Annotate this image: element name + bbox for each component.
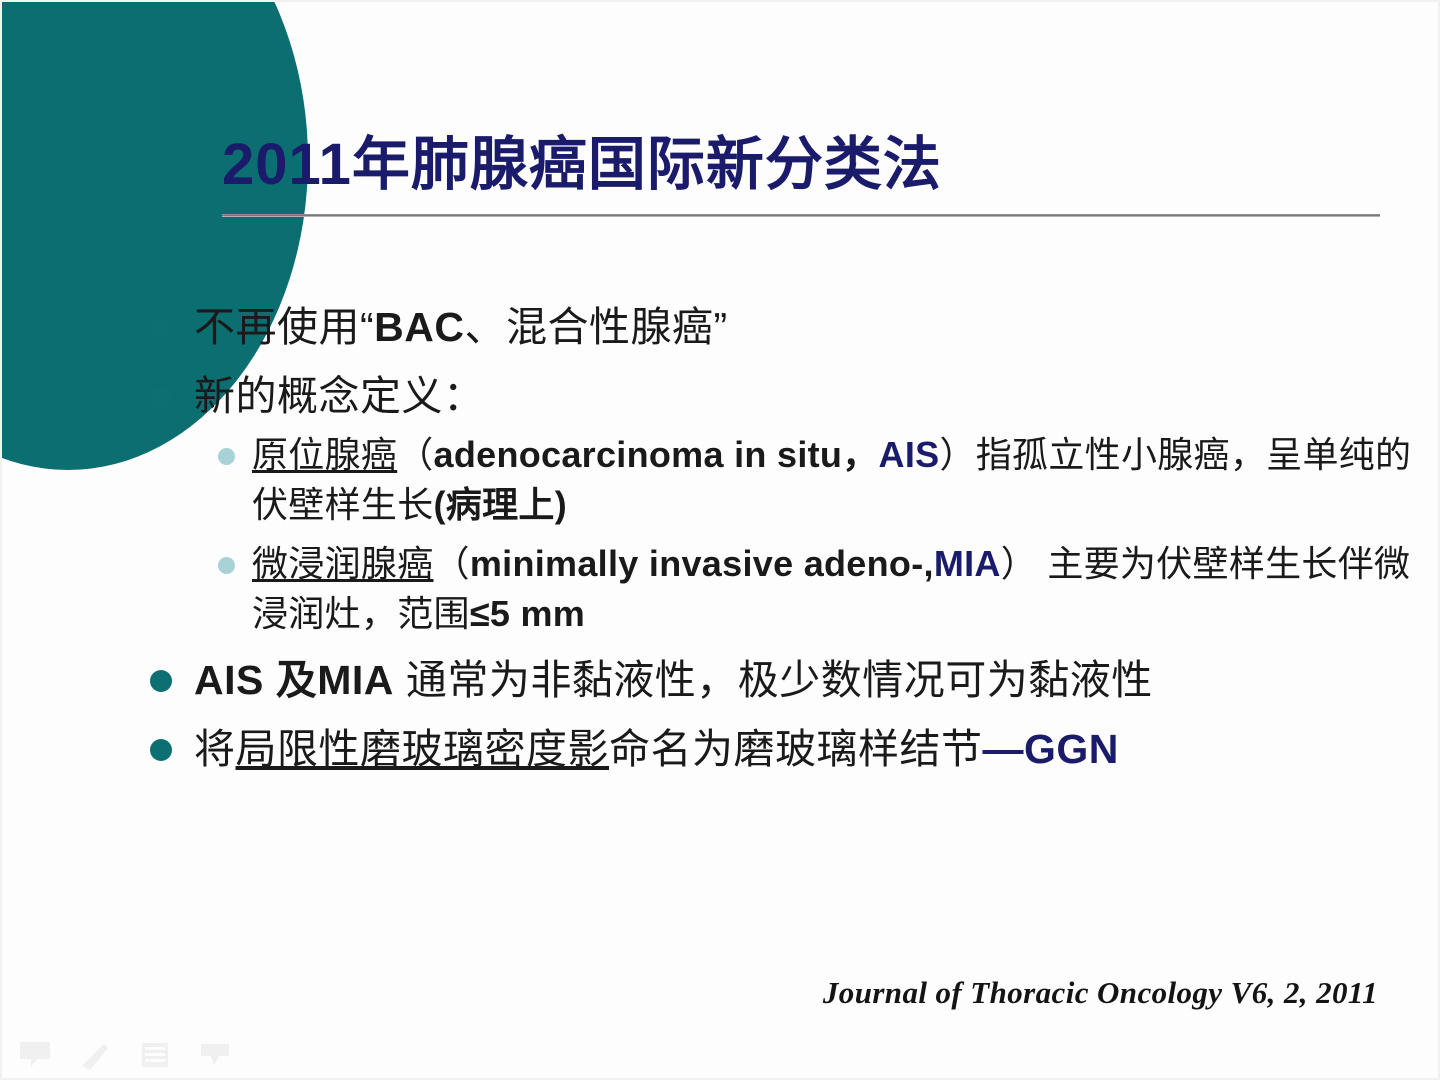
slide-canvas: 2011年肺腺癌国际新分类法 不再使用“BAC、混合性腺癌” 新的概念定义： 原… [0, 0, 1440, 1080]
bullet-4-underlined: 局限性磨玻璃密度影 [236, 726, 610, 772]
cursor-icon[interactable] [198, 1040, 232, 1070]
sub1-underlined: 原位腺癌 [252, 434, 397, 475]
sub2-paren-close: ） [1001, 543, 1037, 584]
sub2-bold-en: minimally invasive adeno-, [470, 543, 934, 584]
bullet-1-bold: BAC [374, 304, 464, 350]
bullet-dot-icon [150, 386, 172, 408]
list-item: 不再使用“BAC、混合性腺癌” [150, 300, 1440, 355]
sub2-underlined: 微浸润腺癌 [252, 543, 434, 584]
title-divider [222, 214, 1380, 217]
bottom-toolbar[interactable] [18, 1040, 232, 1070]
sub-bullet-1-text: 原位腺癌（adenocarcinoma in situ，AIS）指孤立性小腺癌，… [252, 430, 1412, 529]
bullet-4-text: 将局限性磨玻璃密度影命名为磨玻璃样结节—GGN [194, 722, 1119, 777]
bullet-1-text: 不再使用“BAC、混合性腺癌” [194, 300, 728, 355]
bullet-3-mid: 及 [264, 657, 317, 703]
list-item: 原位腺癌（adenocarcinoma in situ，AIS）指孤立性小腺癌，… [218, 430, 1440, 529]
list-icon[interactable] [138, 1040, 172, 1070]
comment-icon[interactable] [18, 1040, 52, 1070]
pen-icon[interactable] [78, 1040, 112, 1070]
bullet-1-post: 、混合性腺癌” [464, 304, 727, 350]
bullet-3-text: AIS 及MIA 通常为非黏液性，极少数情况可为黏液性 [194, 653, 1153, 708]
source-citation: Journal of Thoracic Oncology V6, 2, 2011 [823, 975, 1378, 1011]
bullet-1-pre: 不再使用“ [194, 304, 374, 350]
bullet-4-mid: 命名为磨玻璃样结节 [609, 726, 983, 772]
sub2-abbr: MIA [934, 543, 1001, 584]
sub1-abbr: AIS [879, 434, 940, 475]
bullet-2-text: 新的概念定义： [194, 369, 485, 424]
bullet-3-post: 通常为非黏液性，极少数情况可为黏液性 [394, 657, 1153, 703]
sub1-bold-en: adenocarcinoma in situ， [434, 434, 879, 475]
bullet-3-bold-ais: AIS [194, 657, 264, 703]
page-title: 2011年肺腺癌国际新分类法 [222, 135, 1382, 196]
title-block: 2011年肺腺癌国际新分类法 [222, 135, 1382, 217]
sub2-tail-bold: ≤5 mm [470, 593, 585, 634]
list-item: 微浸润腺癌（minimally invasive adeno-,MIA） 主要为… [218, 539, 1440, 638]
bullet-dot-icon [150, 739, 172, 761]
bullet-dot-icon [150, 317, 172, 339]
bullet-4-abbr: —GGN [983, 726, 1119, 772]
sub-bullet-dot-icon [218, 448, 235, 465]
sub1-paren-open: （ [397, 434, 433, 475]
sub-bullet-dot-icon [218, 557, 235, 574]
sub1-tail-bold: (病理上) [434, 484, 567, 525]
sub1-paren-close: ） [939, 434, 975, 475]
list-item: 新的概念定义： [150, 369, 1440, 424]
sub2-paren-open: （ [434, 543, 470, 584]
list-item: AIS 及MIA 通常为非黏液性，极少数情况可为黏液性 [150, 653, 1440, 708]
bullet-4-pre: 将 [194, 726, 236, 772]
sub-bullet-2-text: 微浸润腺癌（minimally invasive adeno-,MIA） 主要为… [252, 539, 1412, 638]
list-item: 将局限性磨玻璃密度影命名为磨玻璃样结节—GGN [150, 722, 1440, 777]
bullet-3-bold-mia: MIA [317, 657, 394, 703]
body-content: 不再使用“BAC、混合性腺癌” 新的概念定义： 原位腺癌（adenocarcin… [0, 300, 1440, 790]
bullet-dot-icon [150, 670, 172, 692]
